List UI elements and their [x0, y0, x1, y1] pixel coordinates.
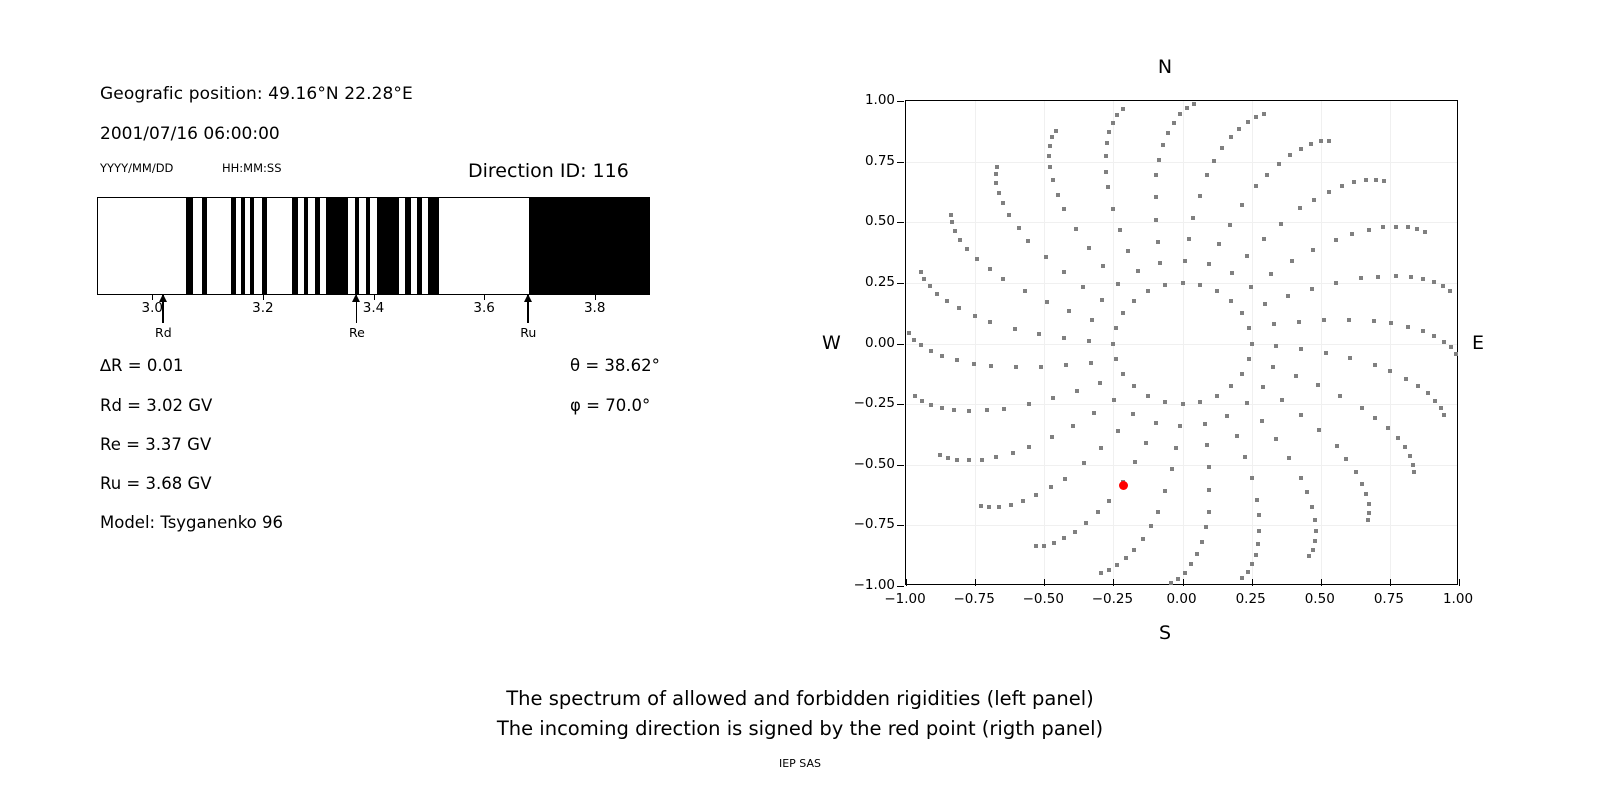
direction-point	[1309, 142, 1313, 146]
param-model: Model: Tsyganenko 96	[100, 513, 283, 532]
gridline-vertical	[1183, 101, 1184, 584]
direction-point	[1124, 556, 1128, 560]
direction-point	[1335, 444, 1339, 448]
direction-point	[945, 299, 949, 303]
direction-point	[1215, 289, 1219, 293]
direction-point	[988, 267, 992, 271]
direction-point	[1099, 571, 1103, 575]
direction-point	[1229, 135, 1233, 139]
direction-point	[973, 314, 977, 318]
direction-point	[1338, 394, 1342, 398]
direction-point	[1116, 282, 1120, 286]
direction-point	[1254, 115, 1258, 119]
direction-point	[967, 409, 971, 413]
direction-point	[1416, 384, 1420, 388]
direction-point	[1247, 326, 1251, 330]
direction-point	[1141, 537, 1145, 541]
direction-point	[1279, 222, 1283, 226]
direction-point	[1154, 421, 1158, 425]
direction-point	[995, 165, 999, 169]
direction-point	[1322, 318, 1326, 322]
direction-point	[1310, 505, 1314, 509]
direction-point	[1313, 518, 1317, 522]
direction-point	[1114, 357, 1118, 361]
y-axis-tick-label: 1.00	[843, 92, 895, 108]
direction-point	[997, 505, 1001, 509]
direction-point	[1115, 563, 1119, 567]
direction-point	[1229, 299, 1233, 303]
direction-point	[1054, 129, 1058, 133]
direction-point	[1287, 456, 1291, 460]
gridline-horizontal	[906, 465, 1457, 466]
direction-point	[1408, 454, 1412, 458]
direction-point	[1156, 240, 1160, 244]
direction-point	[919, 270, 923, 274]
direction-point	[1178, 112, 1182, 116]
direction-point	[1176, 577, 1180, 581]
y-axis-tick-label: 0.00	[843, 335, 895, 351]
gridline-horizontal	[906, 525, 1457, 526]
direction-point	[1230, 271, 1234, 275]
direction-point	[1246, 570, 1250, 574]
direction-point	[1360, 406, 1364, 410]
direction-point	[1144, 441, 1148, 445]
direction-point	[1448, 289, 1452, 293]
direction-point	[1347, 318, 1351, 322]
rigidity-axis-tick-label: 3.8	[584, 300, 605, 316]
direction-point	[1121, 372, 1125, 376]
direction-point	[1256, 542, 1260, 546]
direction-point	[1178, 424, 1182, 428]
direction-point	[1299, 413, 1303, 417]
direction-point	[1290, 259, 1294, 263]
forbidden-band	[355, 198, 359, 294]
direction-point	[1294, 374, 1298, 378]
direction-point	[1406, 225, 1410, 229]
direction-point	[965, 247, 969, 251]
x-axis-tick-label: −0.25	[1092, 591, 1133, 607]
forbidden-band	[417, 198, 423, 294]
direction-point	[1047, 154, 1051, 158]
direction-point	[1011, 451, 1015, 455]
direction-point	[1340, 184, 1344, 188]
direction-point	[1319, 139, 1323, 143]
direction-point	[952, 408, 956, 412]
compass-east-label: E	[1472, 332, 1484, 354]
direction-point	[1254, 184, 1258, 188]
direction-point	[1317, 428, 1321, 432]
direction-point	[1181, 281, 1185, 285]
direction-point	[1360, 482, 1364, 486]
direction-point	[1121, 107, 1125, 111]
direction-point	[1257, 513, 1261, 517]
direction-point	[1107, 568, 1111, 572]
direction-point	[1243, 455, 1247, 459]
direction-point	[1163, 283, 1167, 287]
y-axis-tick-label: −0.50	[843, 456, 895, 472]
direction-point	[1136, 269, 1140, 273]
direction-point	[1299, 347, 1303, 351]
direction-point	[1364, 492, 1368, 496]
direction-point	[1084, 521, 1088, 525]
x-axis-tick	[1044, 579, 1045, 586]
direction-point	[1250, 476, 1254, 480]
direction-point	[1215, 394, 1219, 398]
direction-point	[1441, 284, 1445, 288]
direction-point	[1277, 162, 1281, 166]
rigidity-spectrum-bar	[97, 197, 650, 295]
direction-point	[967, 458, 971, 462]
direction-point	[1280, 398, 1284, 402]
direction-point	[1263, 302, 1267, 306]
direction-point	[1002, 407, 1006, 411]
arrow-up-icon	[159, 294, 167, 302]
direction-point	[1406, 325, 1410, 329]
rigidity-marker-label: Rd	[155, 325, 172, 340]
x-axis-tick	[1390, 579, 1391, 586]
time-format-hint: HH:MM:SS	[222, 161, 282, 175]
direction-point	[1107, 130, 1111, 134]
direction-point	[1183, 259, 1187, 263]
direction-point	[1327, 139, 1331, 143]
direction-point	[1132, 299, 1136, 303]
param-theta: θ = 38.62°	[570, 356, 660, 375]
direction-point	[1265, 173, 1269, 177]
param-delta-r-text: ∆R = 0.01	[100, 356, 184, 375]
param-re: Re = 3.37 GV	[100, 435, 211, 454]
direction-point	[950, 220, 954, 224]
direction-point	[1146, 289, 1150, 293]
direction-point	[1154, 218, 1158, 222]
direction-point	[1449, 345, 1453, 349]
direction-point	[1367, 502, 1371, 506]
direction-point	[1255, 498, 1259, 502]
rigidity-spectrum	[97, 197, 650, 295]
direction-point	[1373, 416, 1377, 420]
geographic-position: Geografic position: 49.16°N 22.28°E	[100, 84, 413, 104]
direction-point	[1409, 275, 1413, 279]
param-ru: Ru = 3.68 GV	[100, 474, 212, 493]
direction-point	[1262, 112, 1266, 116]
direction-point	[997, 191, 1001, 195]
direction-point	[1245, 254, 1249, 258]
direction-point	[1299, 147, 1303, 151]
direction-point	[1132, 548, 1136, 552]
direction-point	[1048, 165, 1052, 169]
direction-point	[1381, 225, 1385, 229]
rigidity-axis-tick-label: 3.0	[142, 300, 163, 316]
direction-point	[1240, 203, 1244, 207]
direction-point	[1272, 322, 1276, 326]
gridline-vertical	[1044, 101, 1045, 584]
direction-point	[1442, 413, 1446, 417]
caption-line-2: The incoming direction is signed by the …	[0, 717, 1600, 740]
direction-point	[1116, 429, 1120, 433]
direction-point	[1051, 396, 1055, 400]
direction-point	[1156, 510, 1160, 514]
direction-point	[1170, 467, 1174, 471]
direction-point	[1081, 285, 1085, 289]
direction-point	[1112, 398, 1116, 402]
footer-label: IEP SAS	[0, 757, 1600, 770]
forbidden-band	[250, 198, 254, 294]
direction-point	[1089, 361, 1093, 365]
direction-point	[1240, 311, 1244, 315]
direction-point	[1396, 436, 1400, 440]
direction-point	[1044, 255, 1048, 259]
direction-point	[1297, 320, 1301, 324]
direction-id-label: Direction ID: 116	[468, 160, 629, 182]
direction-point	[1240, 372, 1244, 376]
direction-point	[1415, 227, 1419, 231]
direction-point	[1056, 193, 1060, 197]
direction-point	[1100, 298, 1104, 302]
x-axis-tick	[975, 579, 976, 586]
x-axis-tick	[906, 579, 907, 586]
direction-point	[1388, 369, 1392, 373]
direction-point	[987, 505, 991, 509]
forbidden-band	[262, 198, 268, 294]
direction-point	[1423, 230, 1427, 234]
rigidity-axis-tick-label: 3.6	[473, 300, 494, 316]
forbidden-band	[326, 198, 348, 294]
compass-north-label: N	[1158, 56, 1172, 78]
direction-point	[1001, 201, 1005, 205]
direction-point	[1114, 326, 1118, 330]
direction-point	[1104, 170, 1108, 174]
direction-point	[1042, 544, 1046, 548]
direction-point	[1183, 571, 1187, 575]
forbidden-band	[186, 198, 193, 294]
gridline-vertical	[1390, 101, 1391, 584]
direction-point	[1049, 485, 1053, 489]
arrow-up-icon	[524, 294, 532, 302]
direction-point	[1220, 146, 1224, 150]
direction-point	[1288, 153, 1292, 157]
direction-point	[1014, 365, 1018, 369]
x-axis-tick-label: −0.75	[953, 591, 994, 607]
direction-point	[1099, 446, 1103, 450]
x-axis-tick-label: 0.50	[1305, 591, 1335, 607]
direction-point	[1034, 544, 1038, 548]
direction-point	[1111, 121, 1115, 125]
direction-point	[949, 213, 953, 217]
direction-point	[1314, 529, 1318, 533]
direction-point	[1104, 154, 1108, 158]
direction-point	[1217, 242, 1221, 246]
direction-point	[1274, 344, 1278, 348]
direction-plot-panel: N S W E −1.00−0.75−0.50−0.250.000.250.50…	[760, 0, 1600, 660]
y-axis-tick	[897, 283, 904, 284]
direction-point	[1163, 489, 1167, 493]
direction-point	[988, 320, 992, 324]
x-axis-tick	[1321, 579, 1322, 586]
direction-point	[958, 238, 962, 242]
direction-point	[1433, 399, 1437, 403]
direction-point	[1261, 385, 1265, 389]
direction-point	[1352, 180, 1356, 184]
direction-point	[994, 455, 998, 459]
direction-point	[1421, 329, 1425, 333]
direction-point	[1260, 419, 1264, 423]
direction-point	[1062, 270, 1066, 274]
gridline-horizontal	[906, 222, 1457, 223]
direction-point	[1411, 463, 1415, 467]
direction-point	[1096, 510, 1100, 514]
x-axis-tick-label: 1.00	[1443, 591, 1473, 607]
direction-point	[1007, 213, 1011, 217]
forbidden-band	[241, 198, 245, 294]
direction-point	[1246, 120, 1250, 124]
direction-point	[1121, 311, 1125, 315]
direction-point	[1250, 562, 1254, 566]
direction-point	[1207, 488, 1211, 492]
rigidity-marker-label: Ru	[520, 325, 536, 340]
arrow-up-icon	[352, 294, 360, 302]
direction-point	[907, 331, 911, 335]
polar-direction-plot[interactable]	[905, 100, 1458, 585]
direction-point	[980, 458, 984, 462]
rigidity-axis-tick-label: 3.4	[363, 300, 384, 316]
direction-point	[1207, 510, 1211, 514]
direction-point	[1316, 383, 1320, 387]
x-axis-tick	[1183, 579, 1184, 586]
direction-point	[1354, 470, 1358, 474]
y-axis-tick-label: −0.25	[843, 395, 895, 411]
direction-point	[1454, 352, 1458, 356]
direction-point	[1163, 400, 1167, 404]
direction-point	[1111, 342, 1115, 346]
direction-point	[1062, 536, 1066, 540]
direction-point	[1181, 402, 1185, 406]
x-axis-tick-label: 0.25	[1236, 591, 1266, 607]
direction-point	[1228, 223, 1232, 227]
direction-point	[1169, 581, 1173, 585]
incoming-direction-point[interactable]	[1119, 481, 1128, 490]
direction-point	[1350, 232, 1354, 236]
forbidden-band	[231, 198, 237, 294]
direction-point	[1126, 249, 1130, 253]
direction-point	[1009, 503, 1013, 507]
direction-point	[1426, 391, 1430, 395]
forbidden-band	[529, 198, 650, 294]
direction-point	[1098, 381, 1102, 385]
direction-point	[935, 292, 939, 296]
direction-point	[1307, 554, 1311, 558]
direction-point	[1064, 363, 1068, 367]
direction-point	[1394, 225, 1398, 229]
direction-point	[1067, 309, 1071, 313]
y-axis-tick	[897, 344, 904, 345]
direction-point	[1348, 356, 1352, 360]
direction-point	[1090, 318, 1094, 322]
direction-point	[1131, 412, 1135, 416]
direction-point	[1132, 384, 1136, 388]
direction-point	[1023, 289, 1027, 293]
direction-point	[1229, 384, 1233, 388]
direction-point	[1432, 334, 1436, 338]
direction-point	[972, 362, 976, 366]
direction-point	[1075, 389, 1079, 393]
direction-point	[1310, 287, 1314, 291]
direction-point	[1235, 434, 1239, 438]
direction-point	[1311, 248, 1315, 252]
direction-point	[1389, 321, 1393, 325]
direction-point	[1106, 185, 1110, 189]
direction-point	[928, 284, 932, 288]
direction-point	[1185, 106, 1189, 110]
direction-point	[1374, 178, 1378, 182]
direction-point	[1154, 195, 1158, 199]
direction-point	[1203, 422, 1207, 426]
y-axis-tick-label: 0.25	[843, 274, 895, 290]
direction-point	[1063, 477, 1067, 481]
direction-point	[1157, 158, 1161, 162]
direction-point	[1082, 461, 1086, 465]
direction-point	[1225, 414, 1229, 418]
direction-point	[985, 408, 989, 412]
direction-point	[1115, 113, 1119, 117]
direction-point	[1039, 365, 1043, 369]
direction-point	[1146, 394, 1150, 398]
direction-point	[1271, 365, 1275, 369]
direction-point	[1247, 357, 1251, 361]
direction-point	[1071, 424, 1075, 428]
direction-point	[1111, 207, 1115, 211]
direction-point	[1386, 426, 1390, 430]
direction-point	[919, 343, 923, 347]
direction-point	[1052, 541, 1056, 545]
y-axis-tick	[897, 404, 904, 405]
direction-point	[1403, 445, 1407, 449]
direction-point	[1207, 262, 1211, 266]
direction-point	[1158, 261, 1162, 265]
direction-point	[1237, 127, 1241, 131]
direction-point	[1286, 294, 1290, 298]
direction-point	[989, 364, 993, 368]
forbidden-band	[366, 198, 370, 294]
direction-point	[1212, 159, 1216, 163]
y-axis-tick-label: 0.75	[843, 153, 895, 169]
y-axis-tick	[897, 101, 904, 102]
direction-point	[1174, 446, 1178, 450]
direction-point	[1366, 518, 1370, 522]
direction-point	[1062, 336, 1066, 340]
datetime-value: 2001/07/16 06:00:00	[100, 124, 280, 144]
direction-point	[1037, 332, 1041, 336]
direction-point	[1311, 548, 1315, 552]
direction-point	[1249, 285, 1253, 289]
direction-point	[1013, 327, 1017, 331]
direction-point	[1298, 206, 1302, 210]
forbidden-band	[292, 198, 299, 294]
forbidden-band	[315, 198, 321, 294]
direction-point	[1245, 401, 1249, 405]
direction-point	[1092, 411, 1096, 415]
compass-south-label: S	[1159, 622, 1171, 644]
forbidden-band	[428, 198, 439, 294]
direction-point	[912, 338, 916, 342]
x-axis-tick	[1459, 579, 1460, 586]
direction-point	[1312, 198, 1316, 202]
direction-point	[1021, 499, 1025, 503]
direction-point	[994, 172, 998, 176]
direction-point	[1200, 540, 1204, 544]
direction-point	[1045, 300, 1049, 304]
direction-point	[1432, 280, 1436, 284]
y-axis-tick	[897, 525, 904, 526]
caption-line-1: The spectrum of allowed and forbidden ri…	[0, 687, 1600, 710]
